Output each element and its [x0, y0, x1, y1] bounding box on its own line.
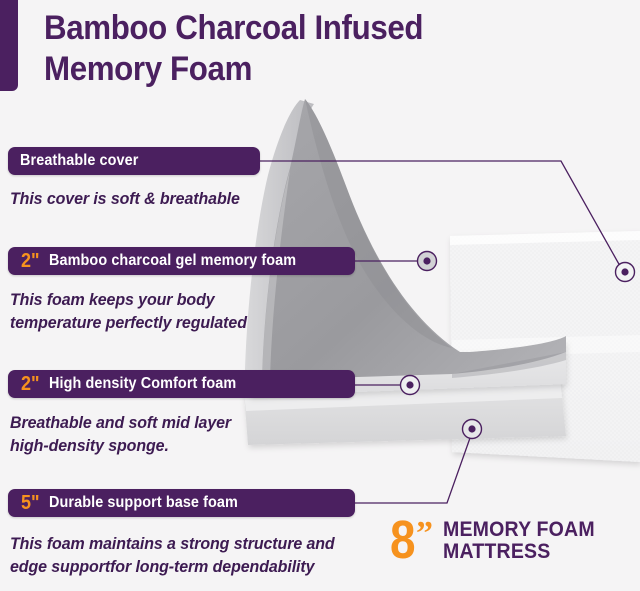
layer-thickness: 5": [21, 493, 40, 513]
layer-description-high-density-comfort-foam: Breathable and soft mid layer high-densi…: [10, 411, 231, 457]
layer-description-breathable-cover: This cover is soft & breathable: [10, 187, 240, 210]
layer-description-bamboo-charcoal-gel-memory-foam: This foam keeps your body temperature pe…: [10, 288, 247, 334]
layer-label-bamboo-charcoal-gel-memory-foam[interactable]: 2" Bamboo charcoal gel memory foam: [8, 247, 355, 275]
total-thickness-number: 8: [390, 517, 416, 563]
layer-label-text: Durable support base foam: [49, 495, 238, 511]
layer-thickness: 2": [21, 251, 40, 271]
layer-label-breathable-cover[interactable]: Breathable cover: [8, 147, 260, 175]
layer-description-durable-support-base-foam: This foam maintains a strong structure a…: [10, 532, 335, 578]
callout-dots: [401, 252, 635, 439]
accent-bar: [0, 0, 18, 91]
layer-label-durable-support-base-foam[interactable]: 5" Durable support base foam: [8, 489, 355, 517]
total-thickness-callout: 8 ” MEMORY FOAM MATTRESS: [390, 517, 606, 563]
layer-thickness: 2": [21, 374, 40, 394]
page-title: Bamboo Charcoal Infused Memory Foam: [44, 8, 476, 90]
layer-label-text: Bamboo charcoal gel memory foam: [49, 253, 296, 269]
infographic-page: Bamboo Charcoal Infused Memory Foam: [0, 0, 640, 591]
layer-label-text: Breathable cover: [20, 153, 138, 169]
product-type-label: MEMORY FOAM MATTRESS: [443, 519, 595, 563]
layer-label-high-density-comfort-foam[interactable]: 2" High density Comfort foam: [8, 370, 355, 398]
inch-mark: ”: [416, 517, 433, 551]
layer-label-text: High density Comfort foam: [49, 376, 236, 392]
